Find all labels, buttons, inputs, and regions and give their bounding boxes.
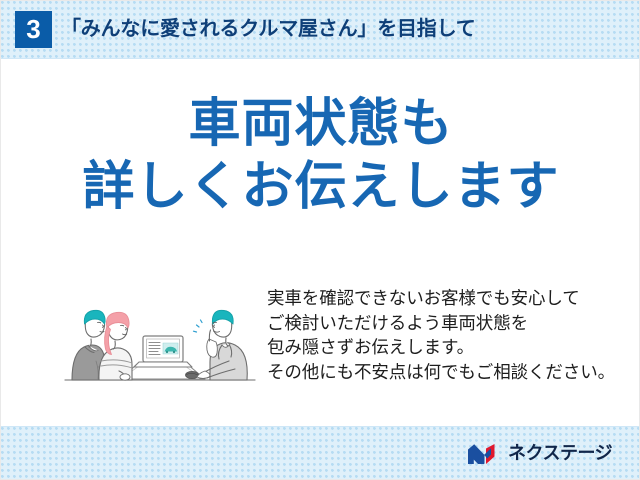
- description-line-3: 包み隠さずお伝えします。: [267, 336, 615, 361]
- consultation-scene-illustration: [59, 279, 259, 397]
- page-title: 「みんなに愛されるクルマ屋さん」を目指して: [61, 14, 476, 44]
- brand-name-label: ネクステージ: [508, 443, 612, 465]
- brand-logo: ネクステージ: [467, 442, 612, 466]
- headline-line-1: 車両状態も: [1, 93, 640, 156]
- headline: 車両状態も 詳しくお伝えします: [1, 93, 640, 219]
- banner-page: 3 「みんなに愛されるクルマ屋さん」を目指して 車両状態も 詳しくお伝えします …: [0, 0, 640, 480]
- description-text: 実車を確認できないお客様でも安心して ご検討いただけるよう車両状態を 包み隠さず…: [267, 287, 615, 385]
- nextage-n-mark-icon: [467, 443, 501, 465]
- description-line-1: 実車を確認できないお客様でも安心して: [267, 287, 615, 312]
- description-line-2: ご検討いただけるよう車両状態を: [267, 312, 615, 337]
- headline-line-2: 詳しくお伝えします: [1, 156, 640, 219]
- description-line-4: その他にも不安点は何でもご相談ください。: [267, 361, 615, 386]
- step-number-badge: 3: [15, 11, 52, 48]
